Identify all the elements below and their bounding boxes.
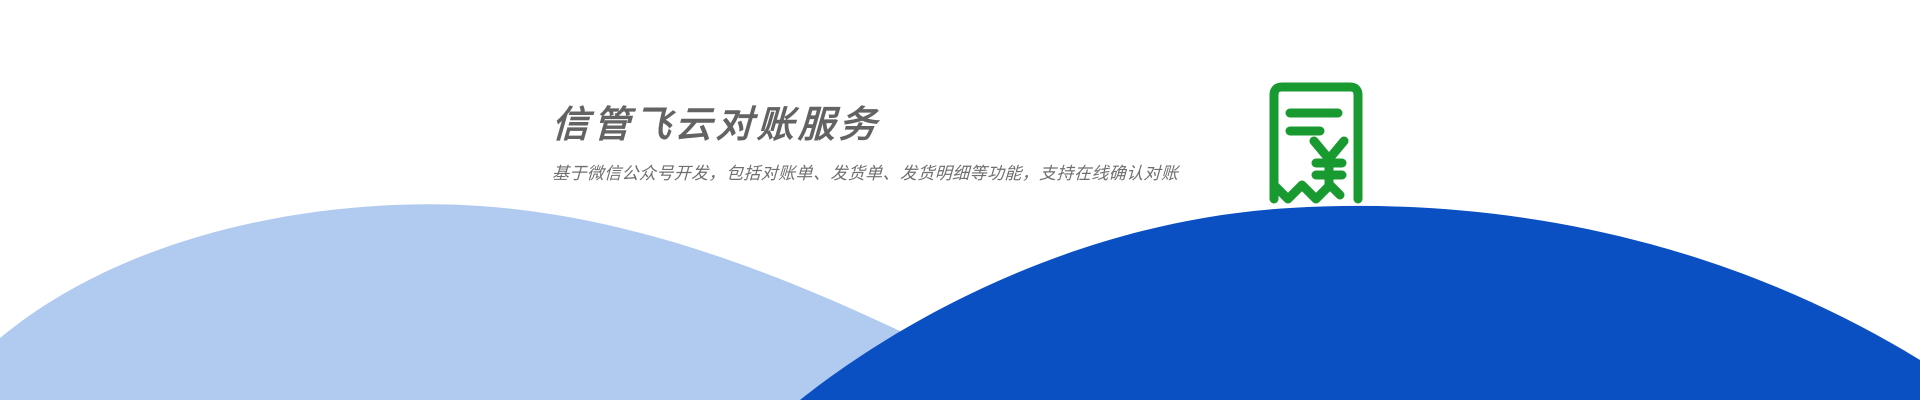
banner-content: 信管飞云对账服务 基于微信公众号开发，包括对账单、发货单、发货明细等功能，支持在… bbox=[0, 0, 1920, 260]
page-subtitle: 基于微信公众号开发，包括对账单、发货单、发货明细等功能，支持在线确认对账 bbox=[551, 162, 1178, 186]
page-title: 信管飞云对账服务 bbox=[551, 102, 881, 148]
page-banner: 信管飞云对账服务 基于微信公众号开发，包括对账单、发货单、发货明细等功能，支持在… bbox=[0, 0, 1920, 400]
banner-text-block: 信管飞云对账服务 基于微信公众号开发，包括对账单、发货单、发货明细等功能，支持在… bbox=[552, 74, 1178, 186]
receipt-yuan-icon bbox=[1264, 55, 1368, 205]
